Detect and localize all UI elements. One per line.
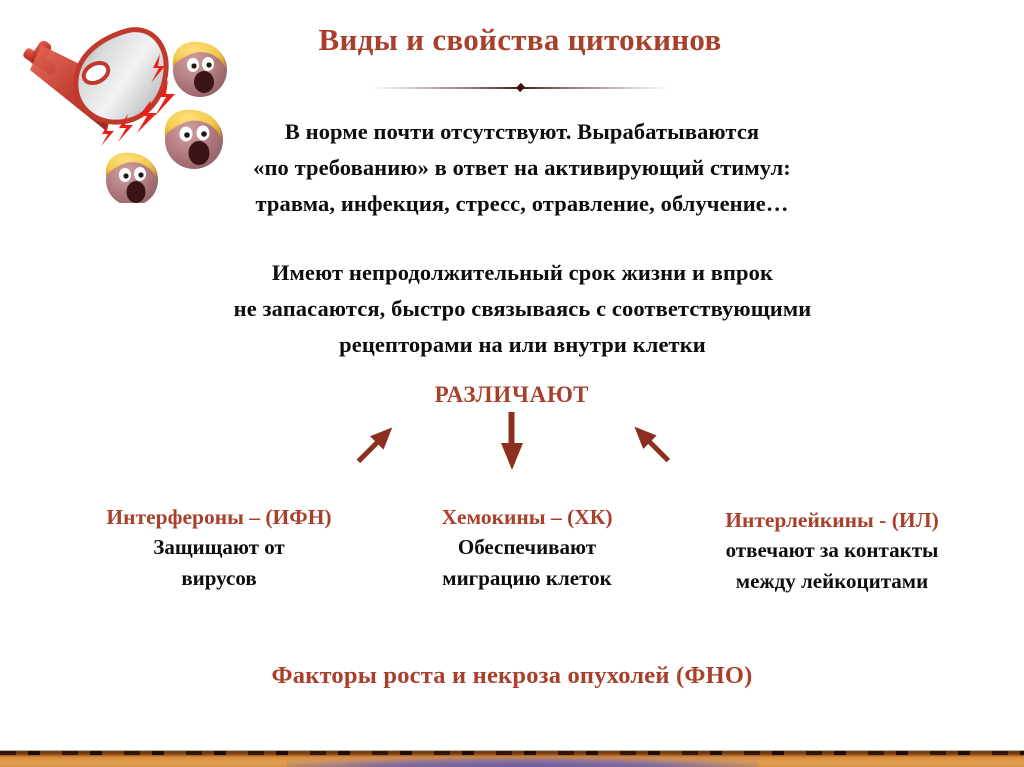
column-body-line: Защищают от xyxy=(34,532,404,563)
slide-canvas: Виды и свойства цитокинов В норме почти … xyxy=(0,0,1024,767)
strip-color-sheen xyxy=(287,757,758,767)
slide-title: Виды и свойства цитокинов xyxy=(240,22,800,58)
paragraph-two-line: Имеют непродолжительный срок жизни и впр… xyxy=(150,255,895,291)
column-body-line: отвечают за контакты xyxy=(662,535,1002,566)
column-heading: Хемокины – (ХК) xyxy=(382,502,672,532)
bottom-decorative-strip xyxy=(0,750,1024,767)
cytokine-column-interleukins: Интерлейкины - (ИЛ) отвечают за контакты… xyxy=(662,505,1002,597)
classification-label: РАЗЛИЧАЮТ xyxy=(362,382,662,408)
paragraph-one-line: В норме почти отсутствуют. Вырабатываютс… xyxy=(172,114,872,150)
column-heading: Интерлейкины - (ИЛ) xyxy=(662,505,1002,535)
arrow-down-icon xyxy=(498,412,526,477)
paragraph-one-line: травма, инфекция, стресс, отравление, об… xyxy=(172,186,872,222)
arrow-down-left-icon xyxy=(352,418,398,475)
column-body-line: Обеспечивают xyxy=(382,532,672,563)
arrow-down-right-icon xyxy=(628,418,674,475)
paragraph-two-line: не запасаются, быстро связываясь с соотв… xyxy=(150,291,895,327)
title-divider xyxy=(370,84,670,91)
screaming-face-icon xyxy=(173,42,227,97)
paragraph-two: Имеют непродолжительный срок жизни и впр… xyxy=(150,255,895,363)
paragraph-two-line: рецепторами на или внутри клетки xyxy=(150,327,895,363)
strip-grain-texture xyxy=(0,751,1024,755)
column-body-line: вирусов xyxy=(34,563,404,594)
column-body-line: между лейкоцитами xyxy=(662,566,1002,597)
screaming-face-icon xyxy=(106,153,158,203)
paragraph-one: В норме почти отсутствуют. Вырабатываютс… xyxy=(172,114,872,222)
cytokine-column-chemokines: Хемокины – (ХК) Обеспечивают миграцию кл… xyxy=(382,502,672,594)
paragraph-one-line: «по требованию» в ответ на активирующий … xyxy=(172,150,872,186)
cytokine-column-interferons: Интерфероны – (ИФН) Защищают от вирусов xyxy=(34,502,404,594)
divider-diamond-icon xyxy=(515,83,524,92)
column-body-line: миграцию клеток xyxy=(382,563,672,594)
footer-statement: Факторы роста и некроза опухолей (ФНО) xyxy=(112,662,912,690)
column-heading: Интерфероны – (ИФН) xyxy=(34,502,404,532)
